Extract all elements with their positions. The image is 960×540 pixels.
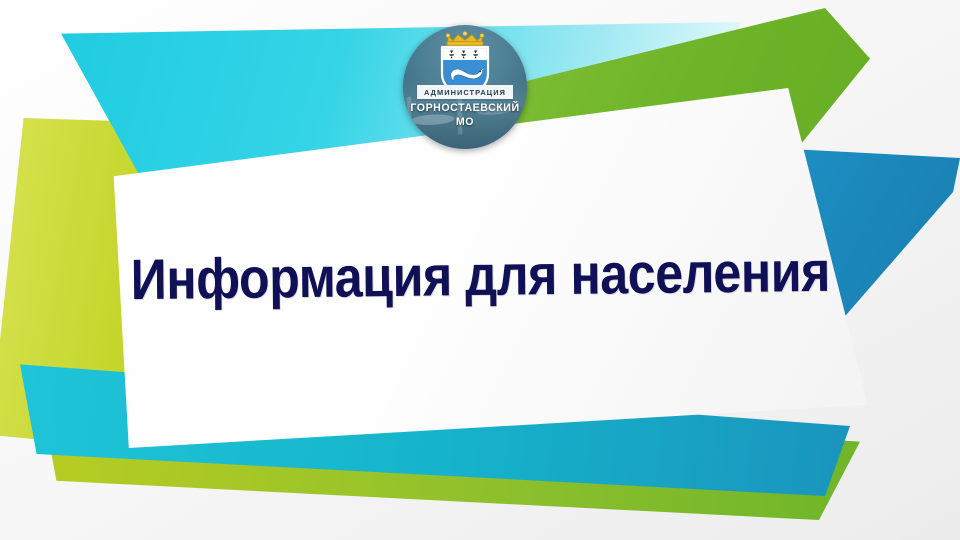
emblem-administration-label: АДМИНИСТРАЦИЯ	[417, 85, 513, 99]
emblem-municipality-abbreviation: МО	[403, 116, 527, 128]
page-title: Информация для населения	[130, 244, 830, 309]
page-title-container: Информация для населения	[0, 248, 960, 305]
administration-logo-badge: АДМИНИСТРАЦИЯ ГОРНОСТАЕВСКИЙ МО	[403, 25, 527, 149]
slide-canvas: Информация для населения	[0, 0, 960, 540]
emblem-municipality-name: ГОРНОСТАЕВСКИЙ	[403, 101, 527, 116]
